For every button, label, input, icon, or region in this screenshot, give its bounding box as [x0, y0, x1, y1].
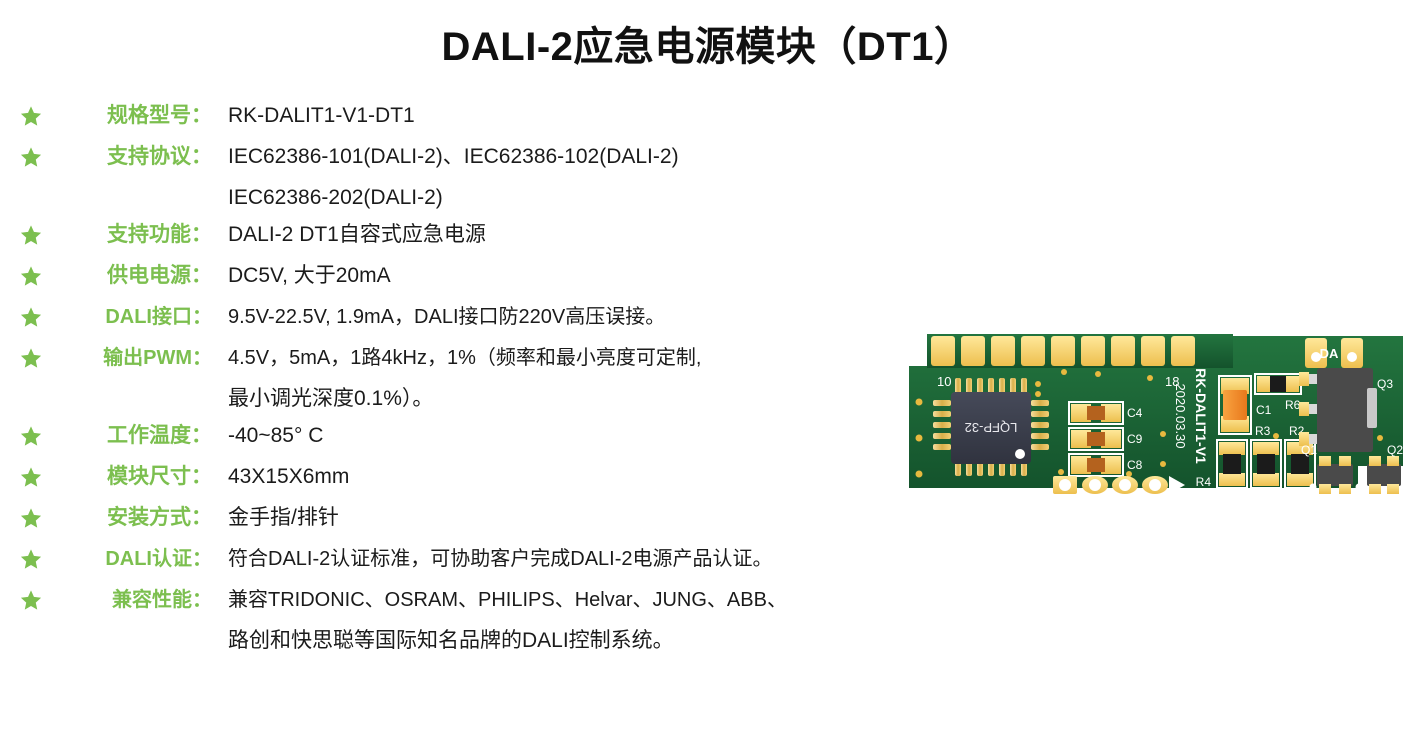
spec-row: 供电电源： DC5V, 大于20mA [0, 260, 900, 298]
silkscreen-c4: C4 [1127, 406, 1143, 420]
spec-label: 规格型号： [62, 100, 212, 132]
spec-row: 输出PWM： 4.5V，5mA，1路4kHz，1%（频率和最小亮度可定制, [0, 342, 900, 380]
spec-label: 模块尺寸： [62, 461, 212, 493]
star-bullet [0, 502, 62, 529]
spec-row: DALI认证： 符合DALI-2认证标准，可协助客户完成DALI-2电源产品认证… [0, 543, 900, 581]
silkscreen-q1: Q1 [1301, 443, 1317, 457]
star-icon [20, 425, 42, 447]
spec-value: 金手指/排针 [212, 502, 900, 534]
silkscreen-r4: R4 [1196, 475, 1212, 489]
spec-row-continuation: 路创和快思聪等国际知名品牌的DALI控制系统。 [0, 625, 900, 659]
pcb-illustration: DA 10 18 [893, 316, 1403, 516]
spec-row: 工作温度： -40~85° C [0, 420, 900, 458]
star-icon [20, 105, 42, 127]
star-icon [20, 548, 42, 570]
spec-value-line2: 路创和快思聪等国际知名品牌的DALI控制系统。 [212, 625, 900, 659]
star-bullet [0, 301, 62, 328]
capacitor-group-c4-c9-c8: C4 C9 C8 [1069, 402, 1143, 476]
star-bullet [0, 260, 62, 287]
spec-label: 工作温度： [62, 420, 212, 452]
silkscreen-q3: Q3 [1377, 377, 1393, 391]
spec-value: -40~85° C [212, 420, 900, 452]
star-bullet [0, 543, 62, 570]
star-bullet [0, 219, 62, 246]
spec-value: DALI-2 DT1自容式应急电源 [212, 219, 900, 251]
spec-row: DALI接口： 9.5V-22.5V, 1.9mA，DALI接口防220V高压误… [0, 301, 900, 339]
star-icon [20, 265, 42, 287]
silkscreen-da-label: DA [1320, 346, 1339, 361]
spec-row: 安装方式： 金手指/排针 [0, 502, 900, 540]
spec-value: RK-DALIT1-V1-DT1 [212, 100, 900, 132]
spec-row: 支持功能： DALI-2 DT1自容式应急电源 [0, 219, 900, 257]
spec-row: 支持协议： IEC62386-101(DALI-2)、IEC62386-102(… [0, 141, 900, 179]
spec-label: 供电电源： [62, 260, 212, 292]
silkscreen-pin-10: 10 [937, 374, 951, 389]
star-icon [20, 589, 42, 611]
spec-value: 9.5V-22.5V, 1.9mA，DALI接口防220V高压误接。 [212, 301, 900, 333]
star-icon [20, 224, 42, 246]
spec-value: 43X15X6mm [212, 461, 900, 493]
star-icon [20, 466, 42, 488]
silkscreen-board-name: RK-DALIT1-V1 [1193, 368, 1209, 464]
spec-label: 支持协议： [62, 141, 212, 173]
spec-label: 支持功能： [62, 219, 212, 251]
star-icon [20, 507, 42, 529]
product-spec-page: DALI-2应急电源模块（DT1） 规格型号： RK-DALIT1-V1-DT1… [0, 0, 1416, 750]
silkscreen-r3: R3 [1255, 424, 1271, 438]
silkscreen-board-date: 2020.03.30 [1173, 383, 1188, 448]
star-bullet [0, 141, 62, 168]
star-icon [20, 146, 42, 168]
star-bullet [0, 461, 62, 488]
star-bullet [0, 420, 62, 447]
silkscreen-chip-label: LQFP-32 [965, 420, 1018, 435]
silkscreen-c1: C1 [1256, 403, 1272, 417]
silkscreen-r6: R6 [1285, 398, 1301, 412]
spec-row-continuation: IEC62386-202(DALI-2) [0, 182, 900, 216]
spec-value: IEC62386-101(DALI-2)、IEC62386-102(DALI-2… [212, 141, 900, 173]
star-icon [20, 347, 42, 369]
star-icon [20, 306, 42, 328]
spec-value: 兼容TRIDONIC、OSRAM、PHILIPS、Helvar、JUNG、ABB… [212, 584, 900, 616]
spec-list: 规格型号： RK-DALIT1-V1-DT1 支持协议： IEC62386-10… [0, 100, 900, 662]
star-bullet [0, 584, 62, 611]
star-bullet [0, 100, 62, 127]
spec-value-line2: IEC62386-202(DALI-2) [212, 182, 900, 216]
spec-label: 兼容性能： [62, 584, 212, 616]
spec-label: DALI认证： [62, 543, 212, 575]
spec-value: DC5V, 大于20mA [212, 260, 900, 292]
spec-row-continuation: 最小调光深度0.1%）。 [0, 383, 900, 417]
silkscreen-c9: C9 [1127, 432, 1143, 446]
spec-label: 输出PWM： [62, 342, 212, 374]
silkscreen-q2: Q2 [1387, 443, 1403, 457]
spec-row: 模块尺寸： 43X15X6mm [0, 461, 900, 499]
spec-row: 规格型号： RK-DALIT1-V1-DT1 [0, 100, 900, 138]
spec-label: 安装方式： [62, 502, 212, 534]
pcb-product-image: DA 10 18 [893, 316, 1403, 516]
spec-label: DALI接口： [62, 301, 212, 333]
star-bullet [0, 342, 62, 369]
silkscreen-c8: C8 [1127, 458, 1143, 472]
spec-value: 符合DALI-2认证标准，可协助客户完成DALI-2电源产品认证。 [212, 543, 900, 575]
gold-finger-pads [931, 336, 1195, 366]
spec-value-line2: 最小调光深度0.1%）。 [212, 383, 900, 417]
spec-row: 兼容性能： 兼容TRIDONIC、OSRAM、PHILIPS、Helvar、JU… [0, 584, 900, 622]
spec-value: 4.5V，5mA，1路4kHz，1%（频率和最小亮度可定制, [212, 342, 900, 374]
page-title: DALI-2应急电源模块（DT1） [0, 14, 1416, 72]
